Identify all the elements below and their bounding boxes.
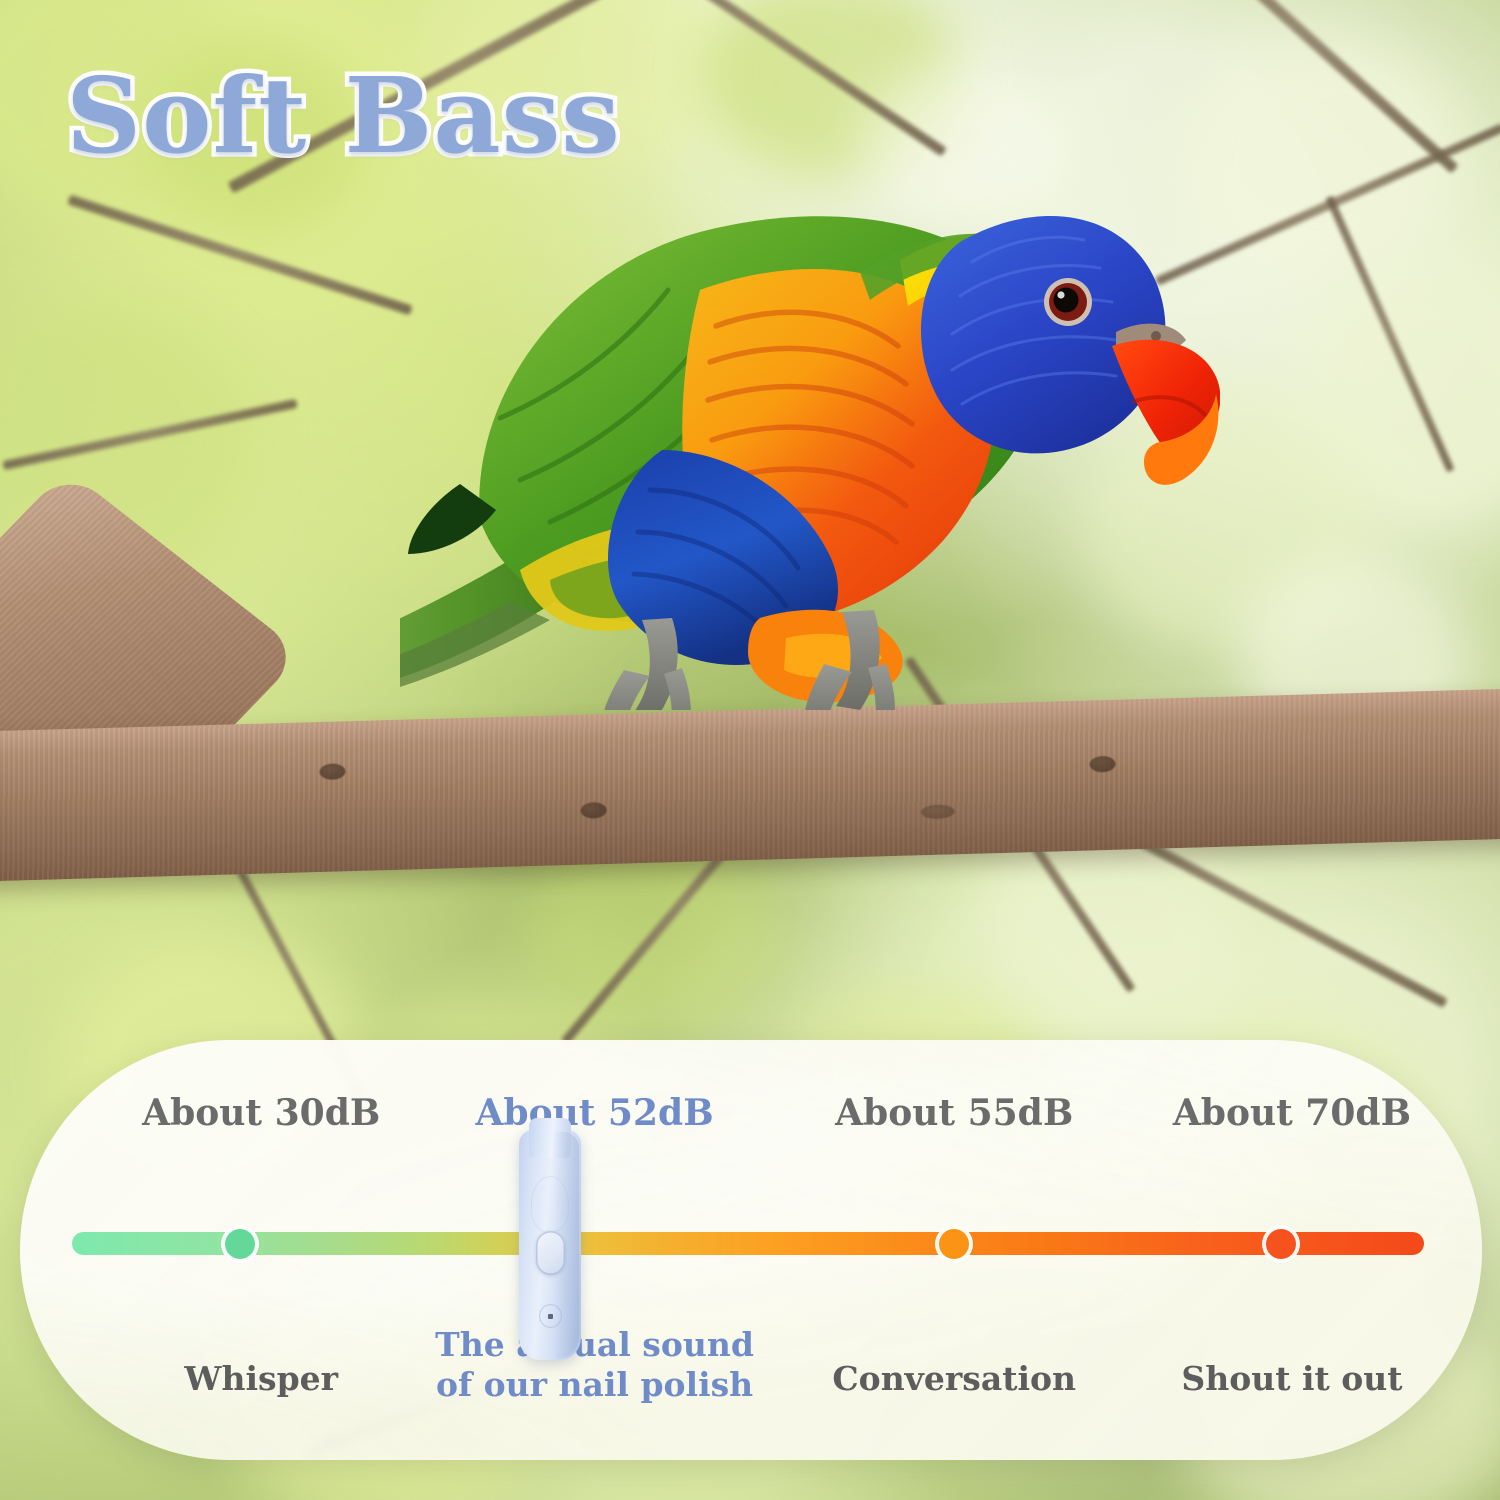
scale-marker-conversation[interactable]	[939, 1229, 969, 1259]
foot-label-shout-line1: Shout it out	[1181, 1359, 1402, 1398]
scale-marker-whisper[interactable]	[225, 1229, 255, 1259]
db-label-70: About 70dB	[1173, 1092, 1411, 1134]
foot-label-conversation: Conversation	[832, 1359, 1076, 1399]
decibel-comparison-panel: About 30dB About 52dB About 55dB About 7…	[20, 1040, 1482, 1460]
loudness-scale-bar[interactable]	[72, 1232, 1424, 1255]
foot-label-actual-sound-line1: The actual sound	[435, 1325, 754, 1364]
foot-label-actual-sound-line2: of our nail polish	[436, 1365, 753, 1404]
foot-label-whisper-line1: Whisper	[184, 1359, 338, 1398]
db-label-55: About 55dB	[835, 1092, 1073, 1134]
foot-label-shout: Shout it out	[1181, 1359, 1402, 1399]
rainbow-lorikeet	[400, 150, 1220, 710]
device-power-button[interactable]	[536, 1231, 565, 1275]
foot-label-whisper: Whisper	[184, 1359, 338, 1399]
nail-polisher-pen	[519, 1118, 581, 1360]
scale-marker-shout[interactable]	[1266, 1229, 1296, 1259]
foot-label-actual-sound: The actual sound of our nail polish	[435, 1325, 754, 1406]
bird-illustration	[400, 150, 1220, 710]
db-label-30: About 30dB	[142, 1092, 380, 1134]
db-label-row: About 30dB About 52dB About 55dB About 7…	[20, 1092, 1482, 1146]
page-title: Soft Bass	[66, 64, 621, 168]
foot-label-conversation-line1: Conversation	[832, 1359, 1076, 1398]
device-led-indicator	[548, 1314, 553, 1319]
db-label-52: About 52dB	[475, 1092, 713, 1134]
